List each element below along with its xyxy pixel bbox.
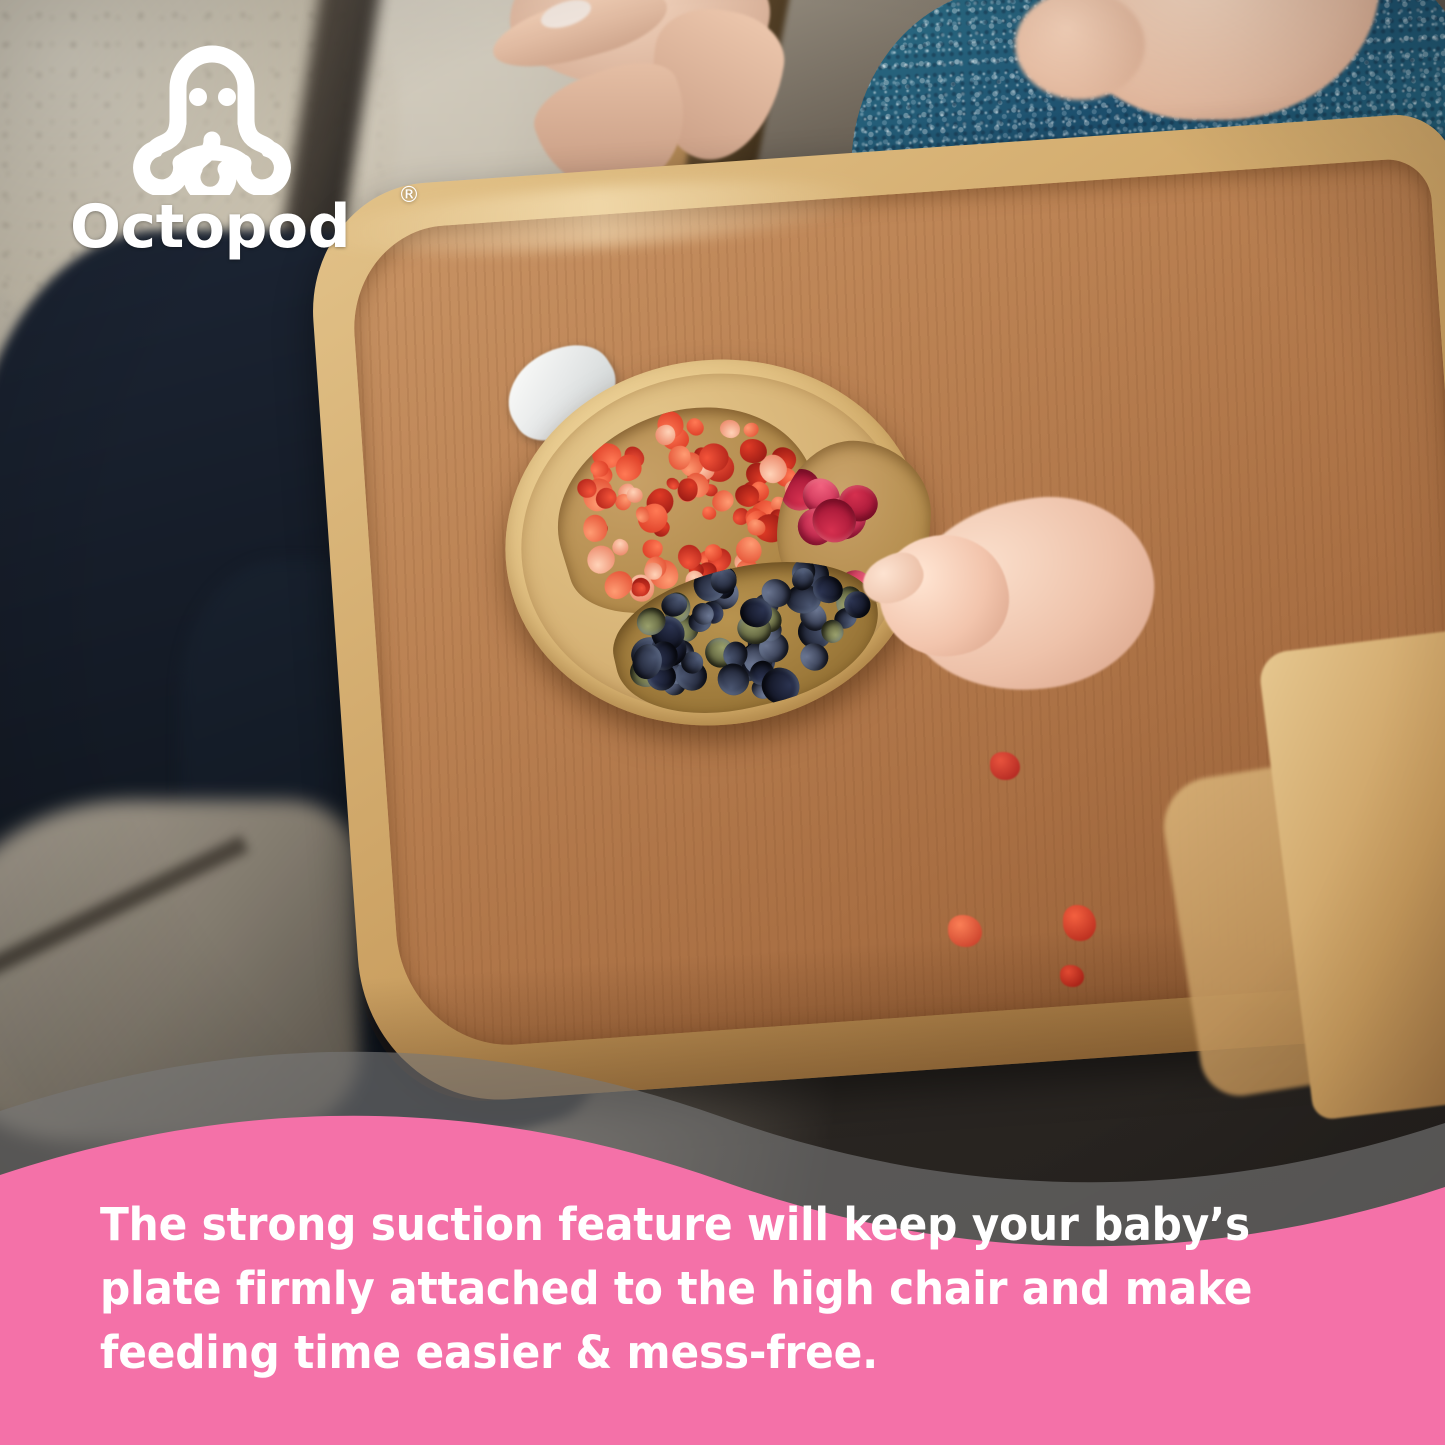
strawberry-piece <box>626 487 643 503</box>
strawberry-piece <box>739 439 767 464</box>
brand-logo: Octopod ® <box>70 45 410 260</box>
footer-caption: The strong suction feature will keep you… <box>100 1193 1270 1385</box>
food-crumb <box>1060 965 1084 987</box>
registered-trademark-icon: ® <box>398 185 420 207</box>
octopus-eye-right <box>218 88 236 106</box>
strawberry-piece <box>581 513 609 543</box>
octopus-eye-left <box>189 88 207 106</box>
product-lifestyle-banner: Octopod ® The strong suction feature wil… <box>0 0 1445 1445</box>
strawberry-piece <box>741 419 761 439</box>
food-crumb <box>1063 905 1096 941</box>
food-crumb <box>948 915 982 947</box>
strawberry-piece <box>719 418 741 438</box>
octopus-logo-icon <box>132 45 292 195</box>
brand-wordmark: Octopod <box>70 197 410 257</box>
footer-caption-container: The strong suction feature will keep you… <box>0 1025 1445 1445</box>
food-crumb <box>990 752 1020 780</box>
blueberry <box>795 639 833 676</box>
